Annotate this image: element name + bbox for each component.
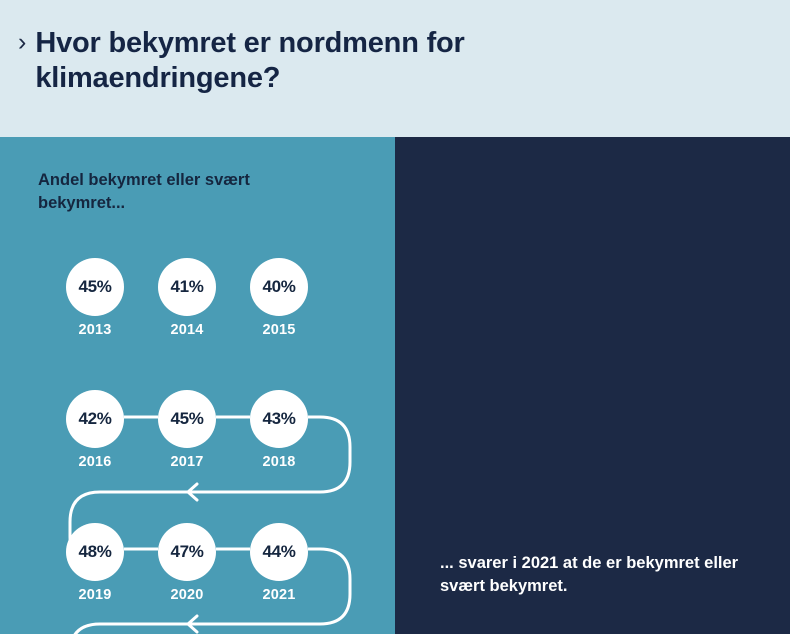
infographic-root: › Hvor bekymret er nordmenn for klimaend… — [0, 0, 790, 634]
timeline-node-year: 2017 — [144, 454, 230, 470]
timeline-node-value: 41% — [158, 258, 216, 316]
timeline-node-value: 40% — [250, 258, 308, 316]
timeline-node-year: 2020 — [144, 587, 230, 603]
timeline-node-2017: 45% 2017 — [158, 390, 216, 448]
timeline-chart: 45% 2013 41% 2014 40% 2015 42% 2016 45% … — [0, 137, 395, 634]
timeline-node-2020: 47% 2020 — [158, 523, 216, 581]
timeline-node-value: 44% — [250, 523, 308, 581]
timeline-node-2014: 41% 2014 — [158, 258, 216, 316]
timeline-node-year: 2018 — [236, 454, 322, 470]
timeline-node-year: 2013 — [52, 322, 138, 338]
timeline-node-value: 42% — [66, 390, 124, 448]
header-banner: › Hvor bekymret er nordmenn for klimaend… — [0, 0, 790, 137]
chevron-right-icon: › — [18, 27, 26, 57]
timeline-node-value: 48% — [66, 523, 124, 581]
right-panel: 37% født 1960 eller tidligere 40% født 1… — [395, 137, 790, 634]
timeline-node-year: 2015 — [236, 322, 322, 338]
timeline-node-value: 45% — [158, 390, 216, 448]
timeline-node-value: 47% — [158, 523, 216, 581]
page-title: › Hvor bekymret er nordmenn for klimaend… — [18, 26, 760, 96]
timeline-node-year: 2021 — [236, 587, 322, 603]
timeline-node-year: 2016 — [52, 454, 138, 470]
timeline-node-value: 43% — [250, 390, 308, 448]
timeline-node-2013: 45% 2013 — [66, 258, 124, 316]
timeline-node-year: 2014 — [144, 322, 230, 338]
timeline-node-value: 45% — [66, 258, 124, 316]
right-panel-caption: ... svarer i 2021 at de er bekymret elle… — [440, 552, 760, 598]
left-panel: Andel bekymret eller svært bekymret... — [0, 137, 395, 634]
page-title-text: Hvor bekymret er nordmenn for klimaendri… — [35, 26, 555, 96]
timeline-node-year: 2019 — [52, 587, 138, 603]
timeline-node-2018: 43% 2018 — [250, 390, 308, 448]
timeline-node-2015: 40% 2015 — [250, 258, 308, 316]
timeline-node-2021: 44% 2021 — [250, 523, 308, 581]
timeline-node-2019: 48% 2019 — [66, 523, 124, 581]
timeline-node-2016: 42% 2016 — [66, 390, 124, 448]
